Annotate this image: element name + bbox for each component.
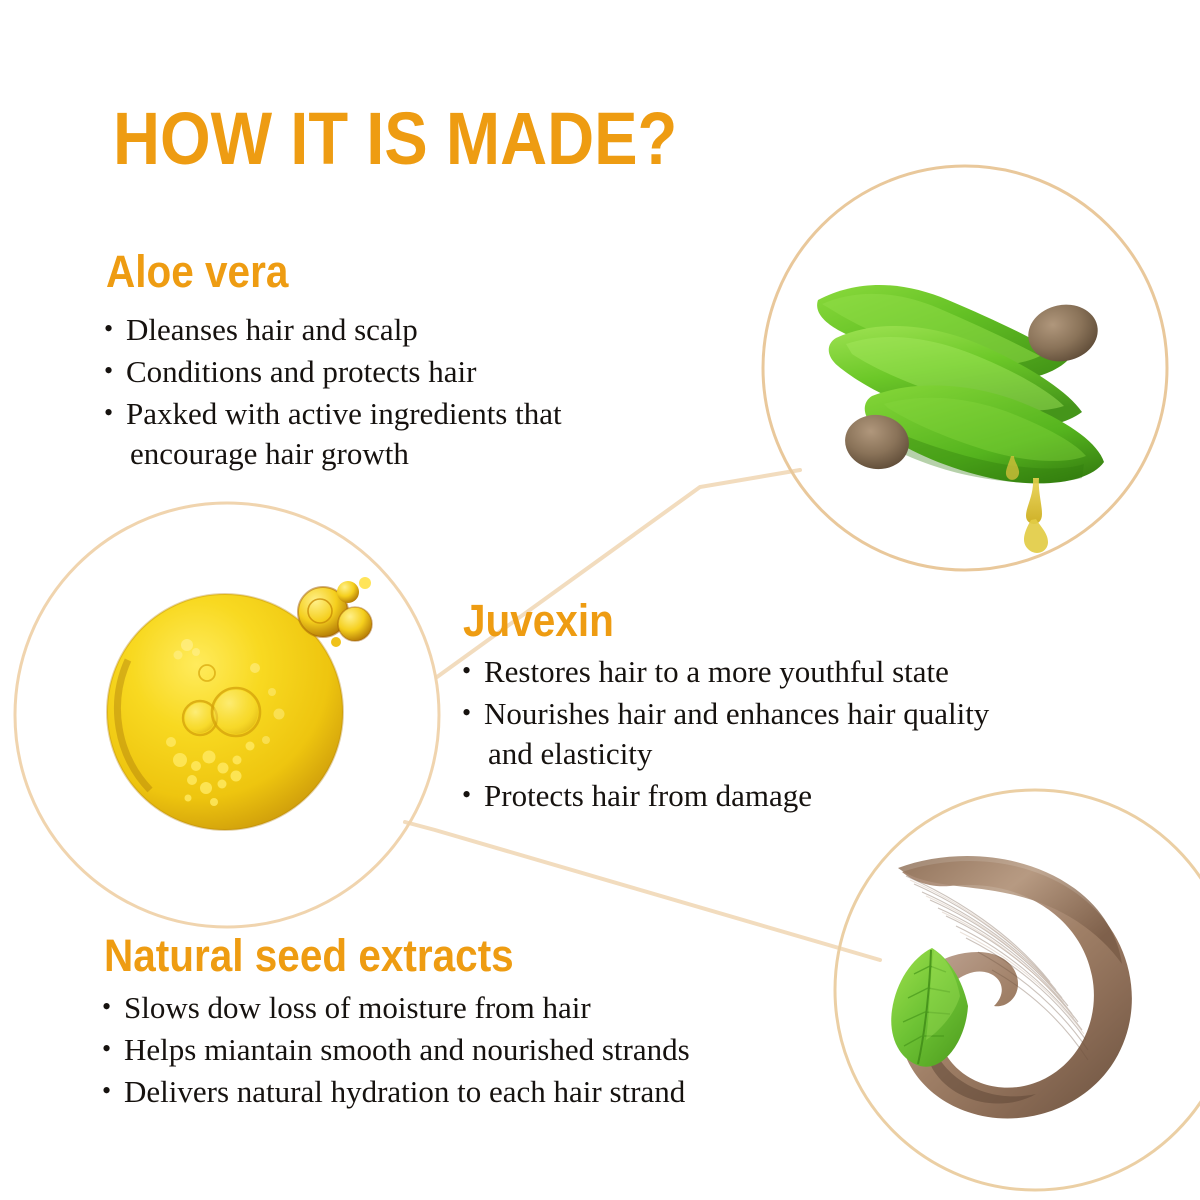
list-item: Protects hair from damage: [462, 776, 1142, 816]
bullet-text: Delivers natural hydration to each hair …: [124, 1074, 685, 1109]
bullet-text: Helps miantain smooth and nourished stra…: [124, 1032, 690, 1067]
infographic-canvas: HOW IT IS MADE? Aloe vera Dleanses hair …: [0, 0, 1200, 1200]
bullet-text: Conditions and protects hair: [126, 354, 476, 389]
bullet-text: Dleanses hair and scalp: [126, 312, 418, 347]
page-title: HOW IT IS MADE?: [113, 100, 677, 178]
bullet-text: Paxked with active ingredients that: [126, 396, 562, 431]
bullet-text: Nourishes hair and enhances hair quality: [484, 696, 989, 731]
oil-droplet-circle-group: [15, 503, 439, 927]
oil-circle-outline: [15, 503, 439, 927]
bullet-list-juvexin: Restores hair to a more youthful state N…: [462, 652, 1142, 818]
list-item: Delivers natural hydration to each hair …: [102, 1072, 862, 1112]
satellite-bubbles: [298, 577, 372, 647]
list-item: Paxked with active ingredients that enco…: [104, 394, 724, 474]
bullet-text: Restores hair to a more youthful state: [484, 654, 949, 689]
bullet-list-aloe-vera: Dleanses hair and scalp Conditions and p…: [104, 310, 724, 476]
bullet-text: Protects hair from damage: [484, 778, 812, 813]
golden-oil-droplet-photo: [107, 577, 372, 830]
section-heading-aloe-vera: Aloe vera: [106, 248, 288, 296]
bullet-text: Slows dow loss of moisture from hair: [124, 990, 591, 1025]
section-heading-juvexin: Juvexin: [463, 597, 614, 645]
aloe-vera-circle-group: [763, 166, 1167, 570]
aloe-circle-outline: [763, 166, 1167, 570]
seed-top: [1023, 298, 1103, 367]
list-item: Conditions and protects hair: [104, 352, 724, 392]
seed-bottom: [842, 411, 913, 473]
bullet-text-continued: encourage hair growth: [126, 434, 724, 474]
bullet-text-continued: and elasticity: [484, 734, 1142, 774]
hair-circle-outline: [835, 790, 1200, 1190]
list-item: Nourishes hair and enhances hair quality…: [462, 694, 1142, 774]
green-leaf: [891, 948, 968, 1067]
list-item: Restores hair to a more youthful state: [462, 652, 1142, 692]
list-item: Dleanses hair and scalp: [104, 310, 724, 350]
list-item: Helps miantain smooth and nourished stra…: [102, 1030, 862, 1070]
brown-hair-swirl-with-leaf-photo: [891, 856, 1132, 1118]
aloe-vera-leaves-photo: [817, 285, 1104, 553]
bullet-list-natural-seed-extracts: Slows dow loss of moisture from hair Hel…: [102, 988, 862, 1114]
hair-circle-group: [835, 790, 1200, 1190]
section-heading-natural-seed-extracts: Natural seed extracts: [104, 932, 514, 980]
list-item: Slows dow loss of moisture from hair: [102, 988, 862, 1028]
